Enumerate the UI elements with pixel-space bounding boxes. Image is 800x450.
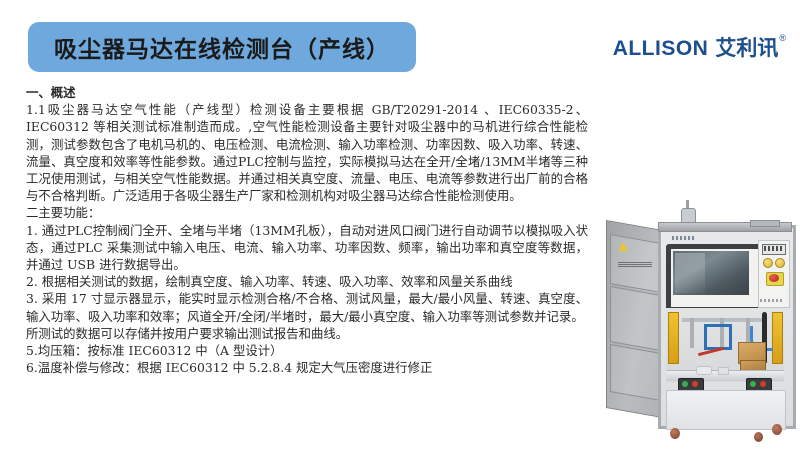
function-item-2: 2. 根据相关测试的数据，绘制真空度、输入功率、转速、吸入功率、效率和风量关系曲… bbox=[26, 273, 588, 290]
caster-wheel-right bbox=[772, 424, 782, 435]
blue-fixture bbox=[704, 324, 732, 350]
machine-brand-strip bbox=[672, 236, 696, 240]
light-curtain-left bbox=[668, 312, 679, 364]
red-indicator-icon-left bbox=[692, 381, 698, 387]
function-item-4: 所测试的数据可以存储并按用户要求输出测试报告和曲线。 bbox=[26, 325, 588, 342]
side-label-plate bbox=[618, 262, 652, 267]
digital-readout-digits bbox=[764, 246, 782, 251]
test-part-b bbox=[718, 367, 729, 375]
side-panel-lower bbox=[610, 344, 662, 401]
company-logo: ALLISON 艾利讯 ® bbox=[613, 38, 786, 59]
side-panel-middle bbox=[610, 286, 662, 351]
light-curtain-right bbox=[772, 312, 783, 364]
panel-button-right bbox=[775, 258, 785, 268]
product-photo bbox=[600, 200, 796, 443]
function-item-6: 6.温度补偿与修改：根据 IEC60312 中 5.2.8.4 规定大气压密度进… bbox=[26, 359, 588, 376]
red-indicator-icon-right bbox=[760, 381, 766, 387]
top-vent bbox=[750, 220, 780, 227]
page-title-banner: 吸尘器马达在线检测台（产线） bbox=[28, 22, 416, 72]
function-item-5: 5.均压箱：按标准 IEC60312 中（A 型设计） bbox=[26, 342, 588, 359]
paragraph-overview: 1.1吸尘器马达空气性能（产线型）检测设备主要根据 GB/T20291-2014… bbox=[26, 101, 588, 204]
logo-cjk-text: 艾利讯 bbox=[715, 38, 778, 59]
gantry-post-1 bbox=[690, 318, 694, 348]
caster-wheel-left bbox=[670, 428, 680, 439]
registered-trademark-icon: ® bbox=[779, 34, 786, 43]
caster-wheel-back bbox=[754, 432, 763, 442]
section-heading-overview: 一、概述 bbox=[26, 84, 588, 101]
section-heading-functions: 二主要功能： bbox=[26, 204, 588, 221]
function-item-1: 1. 通过PLC控制阀门全开、全堵与半堵（13MM孔板），自动对进风口阀门进行自… bbox=[26, 222, 588, 274]
green-indicator-icon-right bbox=[750, 381, 756, 387]
warning-triangle-icon bbox=[618, 242, 628, 251]
page-title: 吸尘器马达在线检测台（产线） bbox=[54, 30, 390, 64]
logo-latin-text: ALLISON bbox=[613, 38, 709, 59]
lower-cabinet-door bbox=[666, 390, 786, 430]
test-part-a bbox=[696, 366, 712, 375]
function-item-3: 3. 采用 17 寸显示器显示，能实时显示检测合格/不合格、测试风量，最大/最小… bbox=[26, 290, 588, 324]
panel-button-left bbox=[763, 258, 773, 268]
emergency-stop-icon bbox=[769, 274, 779, 282]
green-indicator-icon-left bbox=[682, 381, 688, 387]
document-body: 一、概述 1.1吸尘器马达空气性能（产线型）检测设备主要根据 GB/T20291… bbox=[26, 84, 588, 376]
panel-nameplate bbox=[760, 299, 784, 302]
screen-glare bbox=[675, 253, 705, 293]
